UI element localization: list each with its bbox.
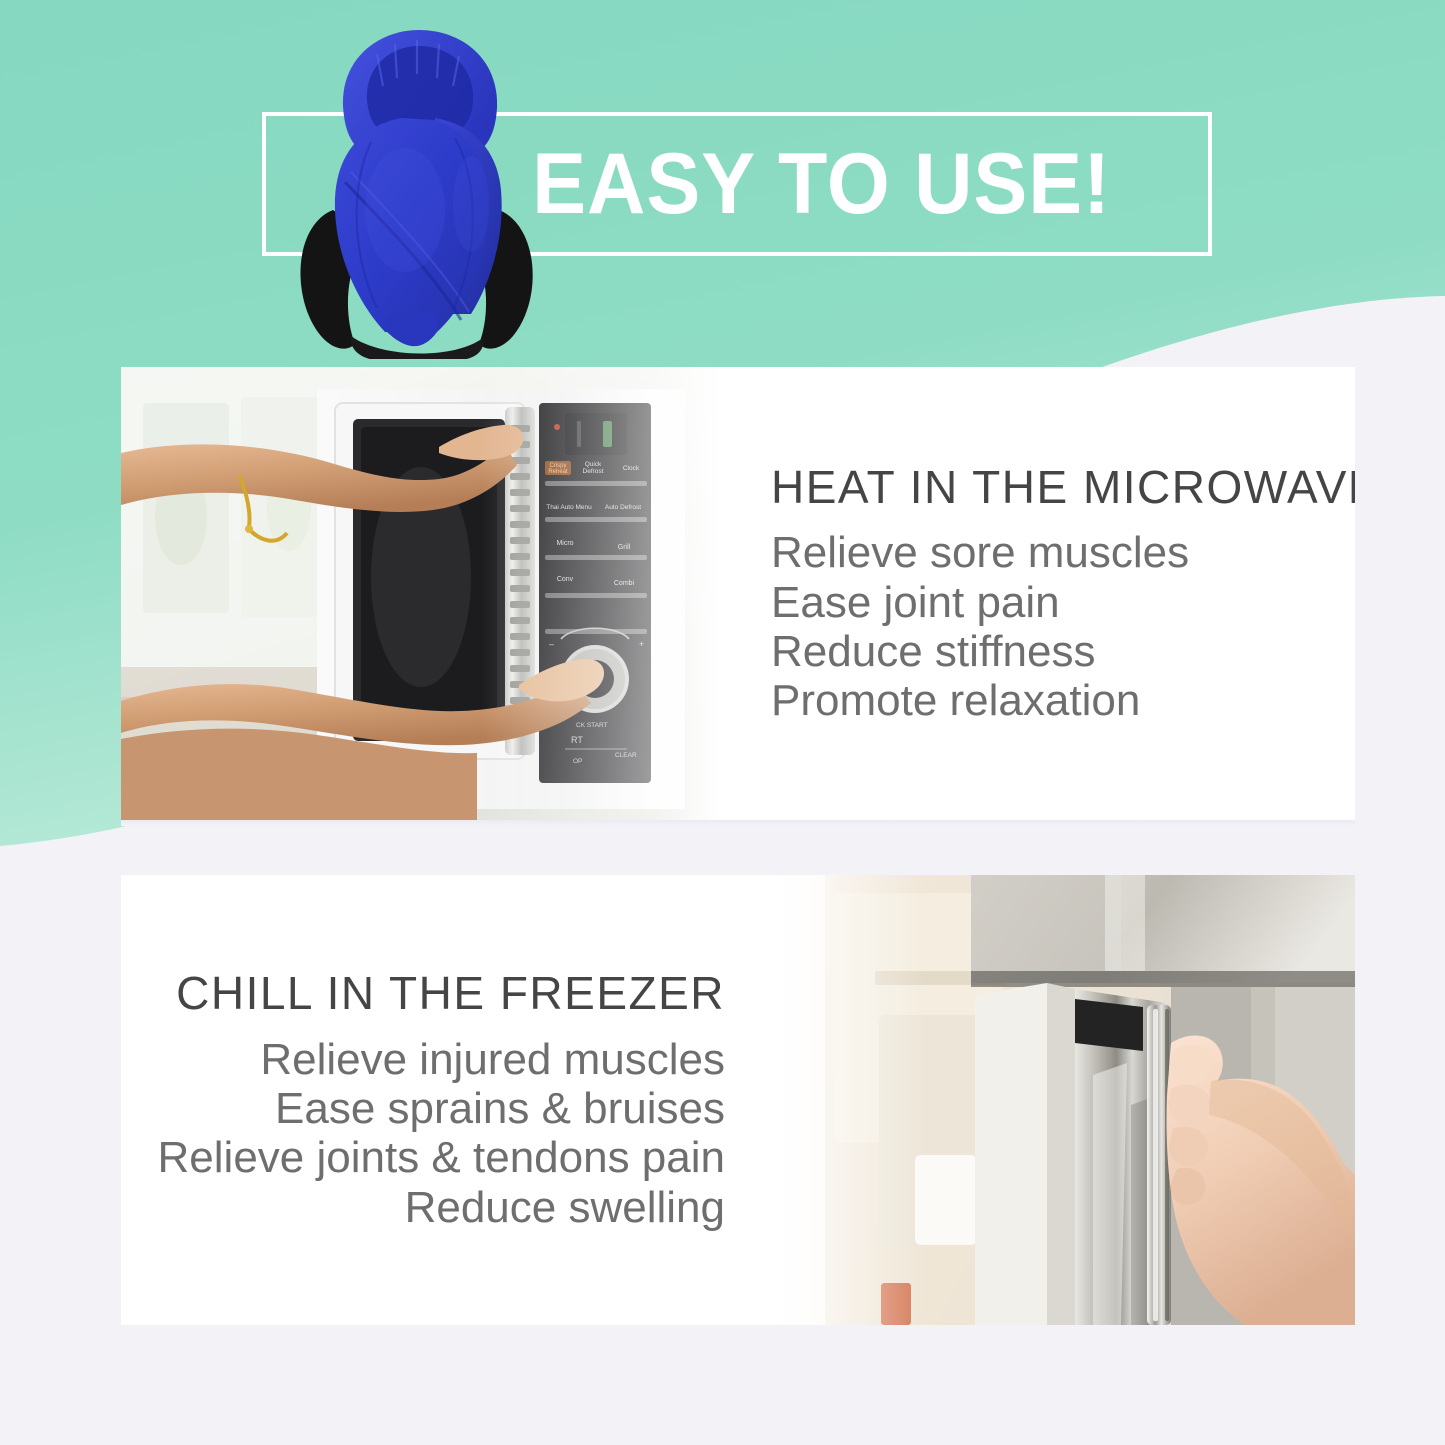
heat-section-title: HEAT IN THE MICROWAVE [771, 462, 1355, 513]
heat-copy-block: HEAT IN THE MICROWAVE Relieve sore muscl… [721, 367, 1355, 820]
chill-copy-block: CHILL IN THE FREEZER Relieve injured mus… [121, 875, 775, 1325]
list-item: Promote relaxation [771, 676, 1189, 725]
list-item: Relieve sore muscles [771, 528, 1189, 577]
list-item: Ease joint pain [771, 578, 1189, 627]
section-card-heat: Crispy Reheat Quick Defrost Clock Thai A… [121, 367, 1355, 820]
heat-benefit-list: Relieve sore muscles Ease joint pain Red… [771, 528, 1189, 725]
chill-benefit-list: Relieve injured muscles Ease sprains & b… [158, 1035, 725, 1232]
list-item: Ease sprains & bruises [158, 1084, 725, 1133]
section-card-chill: CHILL IN THE FREEZER Relieve injured mus… [121, 875, 1355, 1325]
list-item: Relieve joints & tendons pain [158, 1133, 725, 1182]
freezer-photo [775, 875, 1355, 1325]
microwave-photo: Crispy Reheat Quick Defrost Clock Thai A… [121, 367, 721, 820]
list-item: Reduce swelling [158, 1183, 725, 1232]
infographic-poster: EASY TO USE! [0, 0, 1445, 1445]
chill-section-title: CHILL IN THE FREEZER [176, 968, 725, 1019]
list-item: Relieve injured muscles [158, 1035, 725, 1084]
card-heat-shadow [121, 820, 1355, 826]
product-image [285, 14, 555, 359]
list-item: Reduce stiffness [771, 627, 1189, 676]
